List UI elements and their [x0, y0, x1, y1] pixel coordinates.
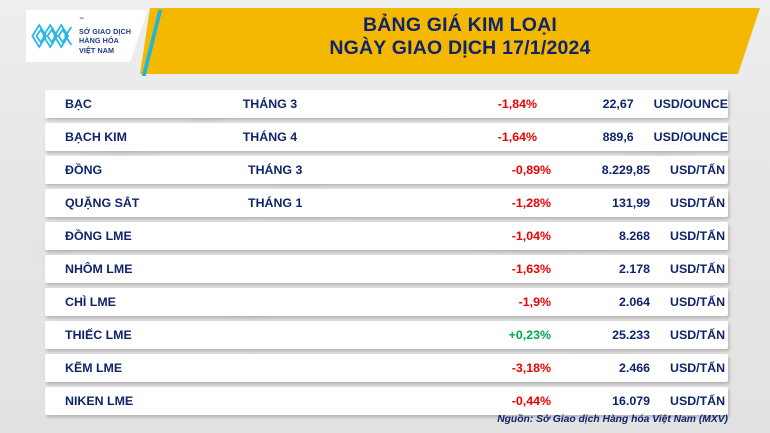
commodity-name: BẠC [45, 97, 243, 111]
page-title-date: NGÀY GIAO DỊCH 17/1/2024 [200, 37, 720, 60]
commodity-name: CHÌ LME [45, 295, 248, 309]
brand-line-2: HÀNG HÓA [79, 36, 119, 45]
table-row[interactable]: QUẶNG SẮTTHÁNG 1-1,28%131,99USD/TẤN [45, 189, 728, 217]
change-percent: -1,64% [379, 130, 554, 144]
table-row[interactable]: THIẾC LME+0,23%25.233USD/TẤN [45, 321, 728, 349]
price-value: 2.178 [568, 262, 650, 276]
commodity-name: ĐỒNG [45, 163, 248, 177]
brand-logo-text: ™ SỞ GIAO DỊCH HÀNG HÓA VIỆT NAM [79, 17, 131, 55]
commodity-name: THIẾC LME [45, 328, 248, 342]
change-percent: -0,89% [388, 163, 568, 177]
price-unit: USD/TẤN [650, 163, 728, 177]
brand-line-3: VIỆT NAM [79, 46, 114, 55]
contract-month: THÁNG 4 [243, 130, 379, 144]
change-percent: -1,84% [379, 97, 554, 111]
table-row[interactable]: KẼM LME-3,18%2.466USD/TẤN [45, 354, 728, 382]
contract-month: THÁNG 1 [248, 196, 388, 210]
contract-month: THÁNG 3 [243, 97, 379, 111]
price-value: 131,99 [568, 196, 650, 210]
table-row[interactable]: ĐỒNG LME-1,04%8.268USD/TẤN [45, 222, 728, 250]
metal-price-table: BẠCTHÁNG 3-1,84%22,67USD/OUNCEBẠCH KIMTH… [45, 90, 728, 420]
change-percent: +0,23% [388, 328, 568, 342]
brand-logo: ™ SỞ GIAO DỊCH HÀNG HÓA VIỆT NAM [26, 10, 148, 62]
price-value: 25.233 [568, 328, 650, 342]
table-row[interactable]: NHÔM LME-1,63%2.178USD/TẤN [45, 255, 728, 283]
price-unit: USD/TẤN [650, 196, 728, 210]
change-percent: -1,9% [388, 295, 568, 309]
price-board-page: ™ SỞ GIAO DỊCH HÀNG HÓA VIỆT NAM BẢNG GI… [0, 0, 770, 433]
price-value: 889,6 [554, 130, 634, 144]
commodity-name: KẼM LME [45, 361, 248, 375]
commodity-name: ĐỒNG LME [45, 229, 248, 243]
price-unit: USD/OUNCE [634, 97, 728, 111]
brand-line-1: SỞ GIAO DỊCH [79, 27, 131, 36]
price-value: 8.229,85 [568, 163, 650, 177]
price-unit: USD/TẤN [650, 328, 728, 342]
price-value: 8.268 [568, 229, 650, 243]
change-percent: -3,18% [388, 361, 568, 375]
table-row[interactable]: ĐỒNGTHÁNG 3-0,89%8.229,85USD/TẤN [45, 156, 728, 184]
price-unit: USD/TẤN [650, 361, 728, 375]
change-percent: -1,63% [388, 262, 568, 276]
brand-trademark: ™ [79, 17, 84, 23]
price-value: 2.466 [568, 361, 650, 375]
price-unit: USD/OUNCE [634, 130, 728, 144]
price-value: 16.079 [568, 394, 650, 408]
mxv-maze-logo-icon [31, 19, 75, 53]
change-percent: -1,28% [388, 196, 568, 210]
source-note: Nguồn: Sở Giao dịch Hàng hóa Việt Nam (M… [497, 414, 728, 425]
price-unit: USD/TẤN [650, 229, 728, 243]
price-value: 2.064 [568, 295, 650, 309]
page-title: BẢNG GIÁ KIM LOẠI NGÀY GIAO DỊCH 17/1/20… [200, 14, 720, 60]
table-row[interactable]: NIKEN LME-0,44%16.079USD/TẤN [45, 387, 728, 415]
price-unit: USD/TẤN [650, 295, 728, 309]
table-row[interactable]: CHÌ LME-1,9%2.064USD/TẤN [45, 288, 728, 316]
page-header: ™ SỞ GIAO DỊCH HÀNG HÓA VIỆT NAM BẢNG GI… [0, 0, 770, 82]
table-row[interactable]: BẠCTHÁNG 3-1,84%22,67USD/OUNCE [45, 90, 728, 118]
contract-month: THÁNG 3 [248, 163, 388, 177]
commodity-name: QUẶNG SẮT [45, 196, 248, 210]
price-unit: USD/TẤN [650, 394, 728, 408]
commodity-name: BẠCH KIM [45, 130, 243, 144]
commodity-name: NIKEN LME [45, 394, 248, 408]
table-row[interactable]: BẠCH KIMTHÁNG 4-1,64%889,6USD/OUNCE [45, 123, 728, 151]
change-percent: -0,44% [388, 394, 568, 408]
price-unit: USD/TẤN [650, 262, 728, 276]
commodity-name: NHÔM LME [45, 262, 248, 276]
change-percent: -1,04% [388, 229, 568, 243]
page-title-main: BẢNG GIÁ KIM LOẠI [200, 14, 720, 37]
price-value: 22,67 [554, 97, 634, 111]
